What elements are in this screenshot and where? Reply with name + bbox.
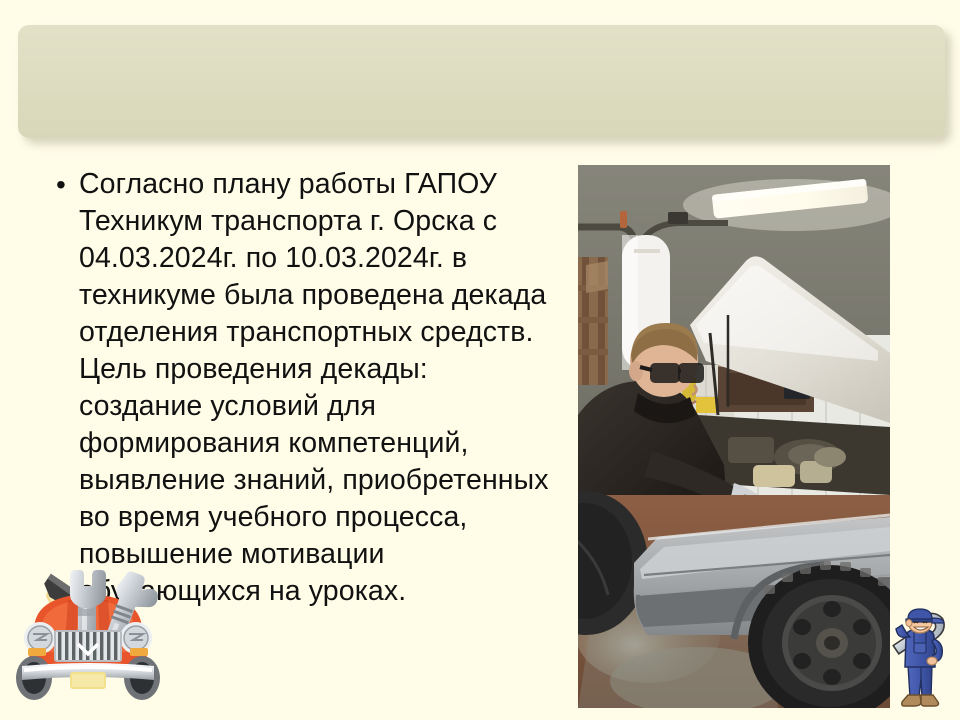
slide-canvas: • Согласно плану работы ГАПОУ Техникум т…: [0, 0, 960, 720]
retro-truck-with-tools-icon: [8, 568, 168, 708]
garage-repair-photo[interactable]: [578, 165, 890, 708]
truck-artwork: [8, 568, 168, 708]
bullet-icon: •: [48, 166, 79, 203]
bullet-text: Согласно плану работы ГАПОУ Техникум тра…: [79, 166, 553, 610]
cartoon-mechanic-with-wrench-icon: [888, 607, 952, 712]
photo-artwork: [578, 165, 890, 708]
mechanic-artwork: [888, 607, 952, 712]
list-item: • Согласно плану работы ГАПОУ Техникум т…: [48, 166, 553, 610]
page-title: [18, 25, 945, 53]
title-placeholder[interactable]: [18, 25, 945, 138]
body-text-placeholder[interactable]: • Согласно плану работы ГАПОУ Техникум т…: [48, 166, 553, 610]
